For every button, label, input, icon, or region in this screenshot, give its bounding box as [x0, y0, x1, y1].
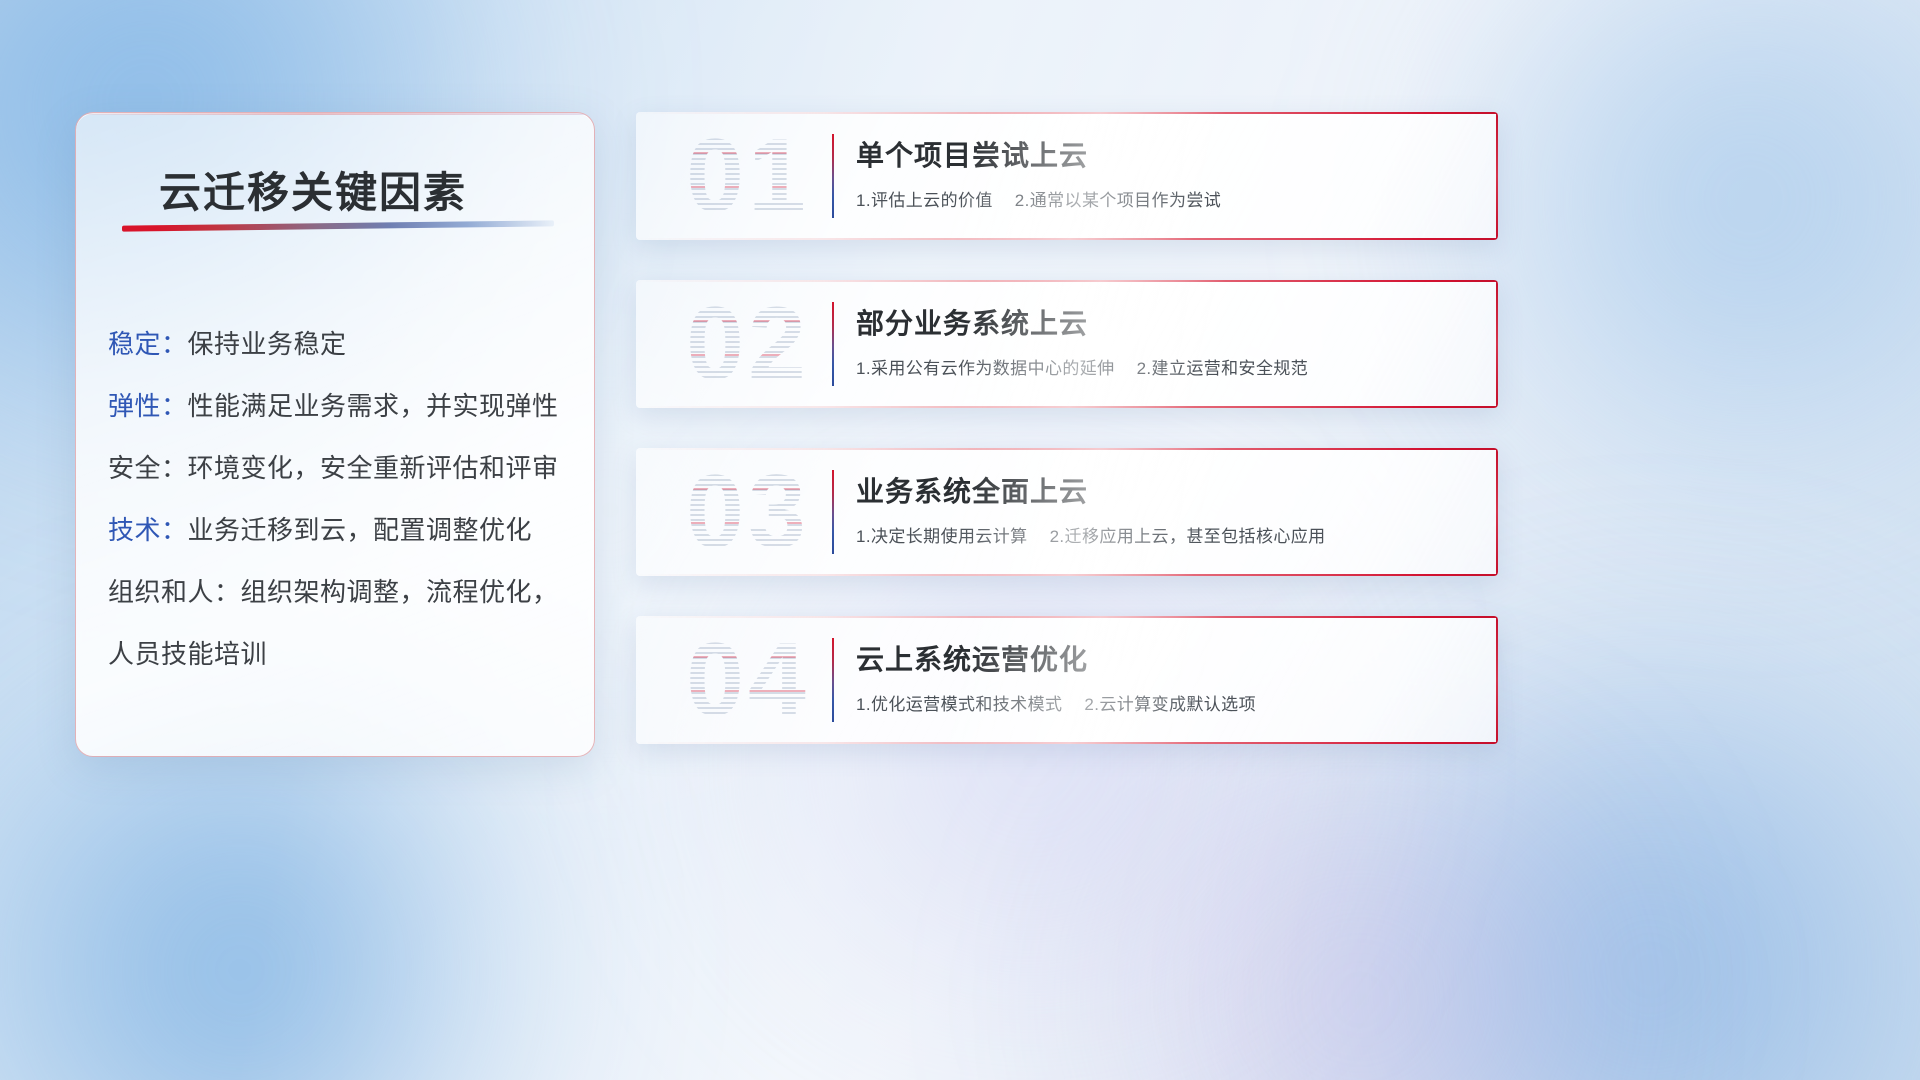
card-vertical-divider [832, 302, 834, 386]
card-vertical-divider [832, 638, 834, 722]
card-subtitle-point: 2.云计算变成默认选项 [1084, 695, 1256, 714]
key-factor-text: 人员技能培训 [108, 639, 267, 669]
card-title: 云上系统运营优化 [856, 638, 1088, 678]
key-factor-item: 人员技能培训 [108, 623, 574, 685]
card-top-accent-line [636, 280, 1498, 282]
card-subtitle: 1.决定长期使用云计算2.迁移应用上云，甚至包括核心应用 [856, 522, 1326, 547]
key-factor-item: 弹性：性能满足业务需求，并实现弹性 [108, 375, 574, 437]
card-subtitle-point: 1.评估上云的价值 [856, 191, 993, 210]
card-vertical-divider [832, 470, 834, 554]
card-number-watermark: 0404 [658, 622, 838, 738]
key-factor-label: 稳定： [108, 329, 188, 359]
card-right-accent-line [1496, 616, 1498, 744]
cloud-migration-stage-cards: 0101单个项目尝试上云1.评估上云的价值2.通常以某个项目作为尝试0202部分… [636, 112, 1498, 784]
key-factor-label: 组织和人： [108, 577, 241, 607]
panel-title: 云迁移关键因素 [159, 159, 467, 220]
card-subtitle: 1.优化运营模式和技术模式2.云计算变成默认选项 [856, 690, 1256, 715]
key-factor-item: 安全：环境变化，安全重新评估和评审 [108, 437, 574, 499]
card-top-accent-line [636, 112, 1498, 114]
stage-card[interactable]: 0404云上系统运营优化1.优化运营模式和技术模式2.云计算变成默认选项 [636, 616, 1498, 744]
card-subtitle: 1.采用公有云作为数据中心的延伸2.建立运营和安全规范 [856, 354, 1308, 379]
card-title: 部分业务系统上云 [856, 302, 1088, 342]
card-title: 业务系统全面上云 [856, 470, 1088, 510]
card-number: 04 [658, 622, 838, 738]
key-factor-text: 保持业务稳定 [188, 329, 347, 359]
card-number: 01 [658, 118, 838, 234]
key-factors-panel: 云迁移关键因素 稳定：保持业务稳定弹性：性能满足业务需求，并实现弹性安全：环境变… [75, 112, 595, 757]
stage-card[interactable]: 0101单个项目尝试上云1.评估上云的价值2.通常以某个项目作为尝试 [636, 112, 1498, 240]
card-title: 单个项目尝试上云 [856, 134, 1088, 174]
key-factor-item: 稳定：保持业务稳定 [108, 313, 574, 375]
card-subtitle-point: 2.通常以某个项目作为尝试 [1015, 191, 1221, 210]
card-bottom-accent-line [636, 238, 1498, 240]
key-factor-item: 技术：业务迁移到云，配置调整优化 [108, 499, 574, 561]
key-factor-text: 组织架构调整，流程优化， [241, 577, 559, 607]
card-right-accent-line [1496, 112, 1498, 240]
card-bottom-accent-line [636, 742, 1498, 744]
card-number-watermark: 0202 [658, 286, 838, 402]
card-number-watermark: 0303 [658, 454, 838, 570]
card-right-accent-line [1496, 280, 1498, 408]
card-bottom-accent-line [636, 406, 1498, 408]
key-factor-label: 弹性： [108, 391, 188, 421]
card-subtitle-point: 2.建立运营和安全规范 [1137, 359, 1309, 378]
card-subtitle-point: 2.迁移应用上云，甚至包括核心应用 [1050, 527, 1326, 546]
card-subtitle-point: 1.优化运营模式和技术模式 [856, 695, 1062, 714]
card-number-watermark: 0101 [658, 118, 838, 234]
stage-card[interactable]: 0303业务系统全面上云1.决定长期使用云计算2.迁移应用上云，甚至包括核心应用 [636, 448, 1498, 576]
key-factor-text: 性能满足业务需求，并实现弹性 [188, 391, 559, 421]
key-factor-item: 组织和人：组织架构调整，流程优化， [108, 561, 574, 623]
card-number: 03 [658, 454, 838, 570]
title-underline-gradient [122, 220, 554, 231]
card-bottom-accent-line [636, 574, 1498, 576]
card-subtitle-point: 1.采用公有云作为数据中心的延伸 [856, 359, 1115, 378]
card-vertical-divider [832, 134, 834, 218]
key-factor-text: 环境变化，安全重新评估和评审 [188, 453, 559, 483]
key-factor-label: 安全： [108, 453, 188, 483]
card-top-accent-line [636, 448, 1498, 450]
key-factors-list: 稳定：保持业务稳定弹性：性能满足业务需求，并实现弹性安全：环境变化，安全重新评估… [108, 313, 574, 685]
key-factor-text: 业务迁移到云，配置调整优化 [188, 515, 533, 545]
stage-card[interactable]: 0202部分业务系统上云1.采用公有云作为数据中心的延伸2.建立运营和安全规范 [636, 280, 1498, 408]
card-subtitle-point: 1.决定长期使用云计算 [856, 527, 1028, 546]
card-number: 02 [658, 286, 838, 402]
slide-stage: 云迁移关键因素 稳定：保持业务稳定弹性：性能满足业务需求，并实现弹性安全：环境变… [0, 0, 1920, 1080]
card-top-accent-line [636, 616, 1498, 618]
card-subtitle: 1.评估上云的价值2.通常以某个项目作为尝试 [856, 186, 1221, 211]
key-factor-label: 技术： [108, 515, 188, 545]
card-right-accent-line [1496, 448, 1498, 576]
